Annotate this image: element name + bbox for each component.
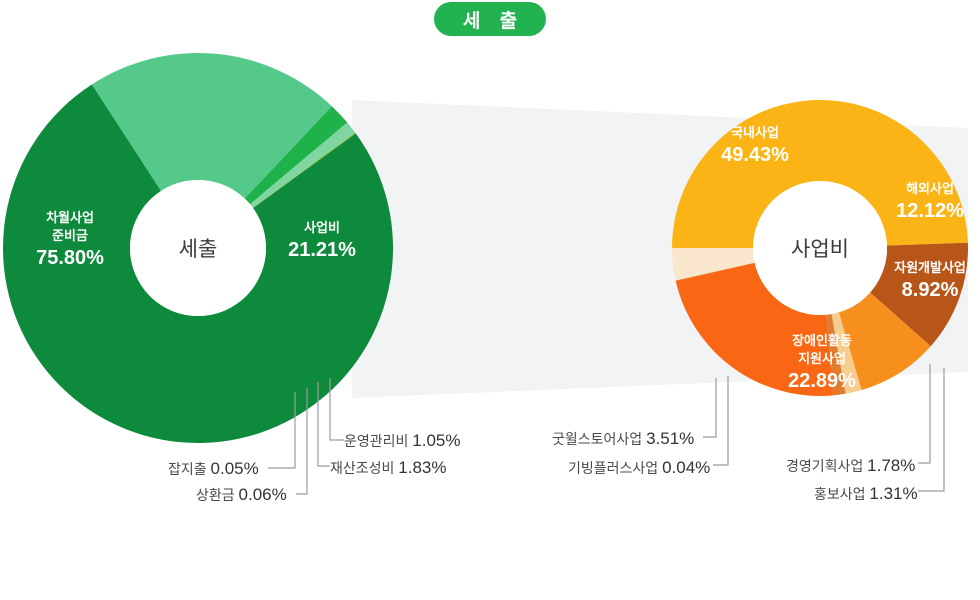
callout-label-value: 3.51% bbox=[646, 429, 694, 448]
callout-label-name: 재산조성비 bbox=[330, 460, 398, 476]
callout-label-value: 0.06% bbox=[239, 485, 287, 504]
callout-label-name: 상환금 bbox=[196, 487, 239, 503]
callout-label: 재산조성비 1.83% bbox=[330, 459, 447, 476]
callout-label-value: 0.04% bbox=[662, 458, 710, 477]
callout-label: 잡지출 0.05% bbox=[168, 460, 259, 477]
callout-label-name: 굿윌스토어사업 bbox=[552, 431, 646, 447]
callout-label: 홍보사업 1.31% bbox=[814, 485, 918, 502]
callout-label-value: 1.31% bbox=[869, 484, 917, 503]
callout-label: 상환금 0.06% bbox=[196, 486, 287, 503]
callout-label: 굿윌스토어사업 3.51% bbox=[552, 430, 694, 447]
callout-leader-line bbox=[713, 376, 728, 465]
callout-label-name: 홍보사업 bbox=[814, 486, 869, 502]
callout-label-value: 1.05% bbox=[412, 431, 460, 450]
callout-leader-line bbox=[918, 364, 930, 463]
callout-leader-line bbox=[918, 368, 944, 491]
callout-label-name: 잡지출 bbox=[168, 461, 211, 477]
slice-inline-label: 자원개발사업8.92% bbox=[894, 260, 966, 301]
callout-label: 운영관리비 1.05% bbox=[344, 432, 461, 449]
donut-center-label: 세출 bbox=[179, 238, 218, 261]
callout-leader-line bbox=[703, 378, 716, 437]
expenditure-donut-charts: 세출사업비21.21%차월사업준비금75.80%사업비국내사업49.43%해외사… bbox=[0, 0, 980, 600]
callout-label-name: 운영관리비 bbox=[344, 433, 412, 449]
callout-label-name: 기빙플러스사업 bbox=[568, 460, 662, 476]
chart-stage: 세 출 세출사업비21.21%차월사업준비금75.80%사업비국내사업49.43… bbox=[0, 0, 980, 600]
callout-label-name: 경영기획사업 bbox=[786, 458, 867, 474]
callout-label: 경영기획사업 1.78% bbox=[786, 457, 915, 474]
callout-label-value: 0.05% bbox=[211, 459, 259, 478]
callout-label-value: 1.83% bbox=[398, 458, 446, 477]
slice-inline-label: 해외사업12.12% bbox=[896, 181, 964, 222]
slice-inline-label: 장애인활동지원사업22.89% bbox=[788, 333, 856, 392]
callout-label: 기빙플러스사업 0.04% bbox=[568, 459, 710, 476]
slice-inline-label: 국내사업49.43% bbox=[721, 125, 789, 166]
callout-label-value: 1.78% bbox=[867, 456, 915, 475]
donut-center-label: 사업비 bbox=[791, 238, 849, 261]
